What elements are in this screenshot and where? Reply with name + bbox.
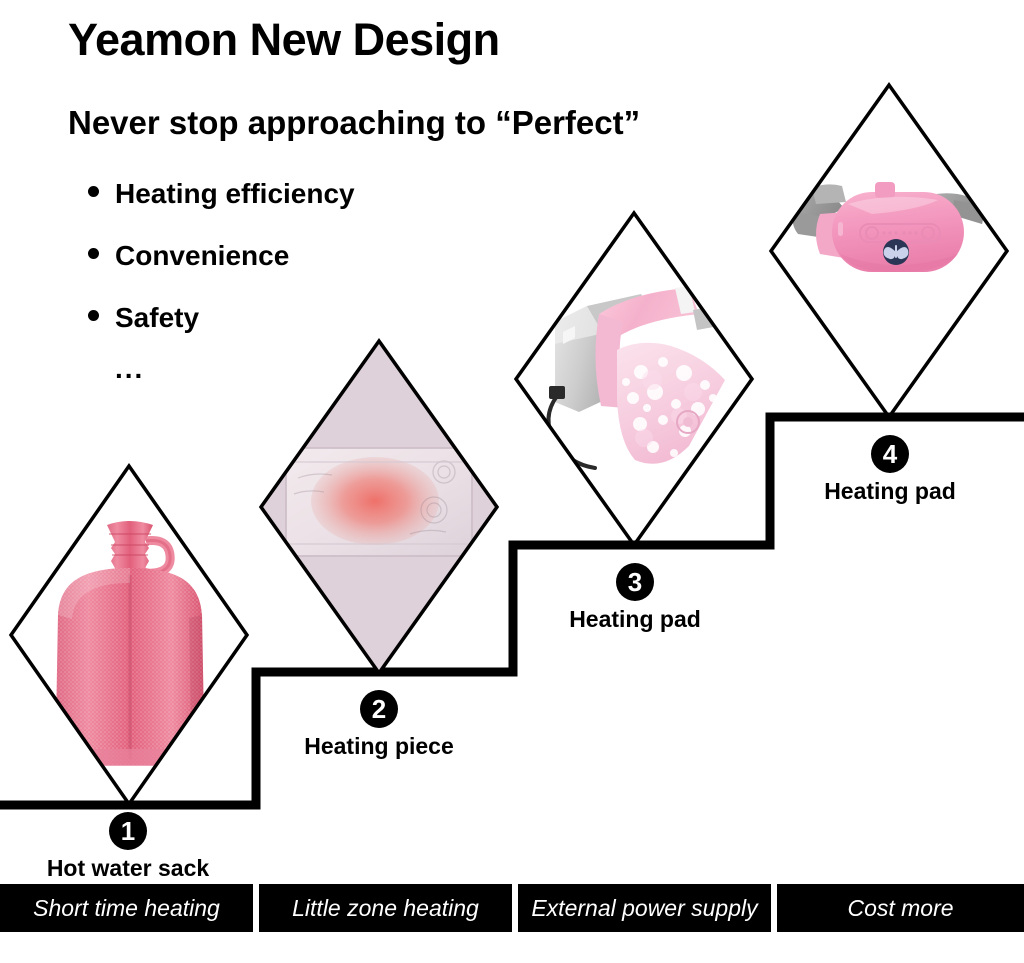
step-label-3: Heating pad — [510, 606, 760, 633]
caption-box-4: Cost more — [777, 884, 1024, 932]
infographic-canvas: Yeamon New Design Never stop approaching… — [0, 0, 1024, 963]
caption-text-2: Little zone heating — [292, 895, 479, 922]
caption-box-3: External power supply — [518, 884, 771, 932]
product-photo-corded-heating-pad — [548, 286, 725, 468]
product-photo-cordless-heating-belt — [792, 182, 986, 272]
step-diamond-2 — [258, 338, 500, 676]
caption-text-4: Cost more — [847, 895, 953, 922]
step-diamond-3 — [513, 210, 755, 548]
diamond-outline-4 — [768, 82, 1010, 420]
caption-text-3: External power supply — [531, 895, 757, 922]
caption-text-1: Short time heating — [33, 895, 220, 922]
product-photo-heating-sachet — [261, 341, 497, 673]
step-diamond-1 — [8, 463, 250, 807]
step-number-badge-3: 3 — [616, 563, 654, 601]
step-number-badge-2: 2 — [360, 690, 398, 728]
step-diamond-4 — [768, 82, 1010, 420]
step-label-1: Hot water sack — [0, 855, 256, 882]
diamond-outline-1 — [8, 463, 250, 807]
step-number-badge-4: 4 — [871, 435, 909, 473]
caption-box-1: Short time heating — [0, 884, 253, 932]
caption-box-2: Little zone heating — [259, 884, 512, 932]
diamond-outline-2 — [258, 338, 500, 676]
step-label-4: Heating pad — [765, 478, 1015, 505]
step-label-2: Heating piece — [254, 733, 504, 760]
step-number-badge-1: 1 — [109, 812, 147, 850]
diamond-outline-3 — [513, 210, 755, 548]
